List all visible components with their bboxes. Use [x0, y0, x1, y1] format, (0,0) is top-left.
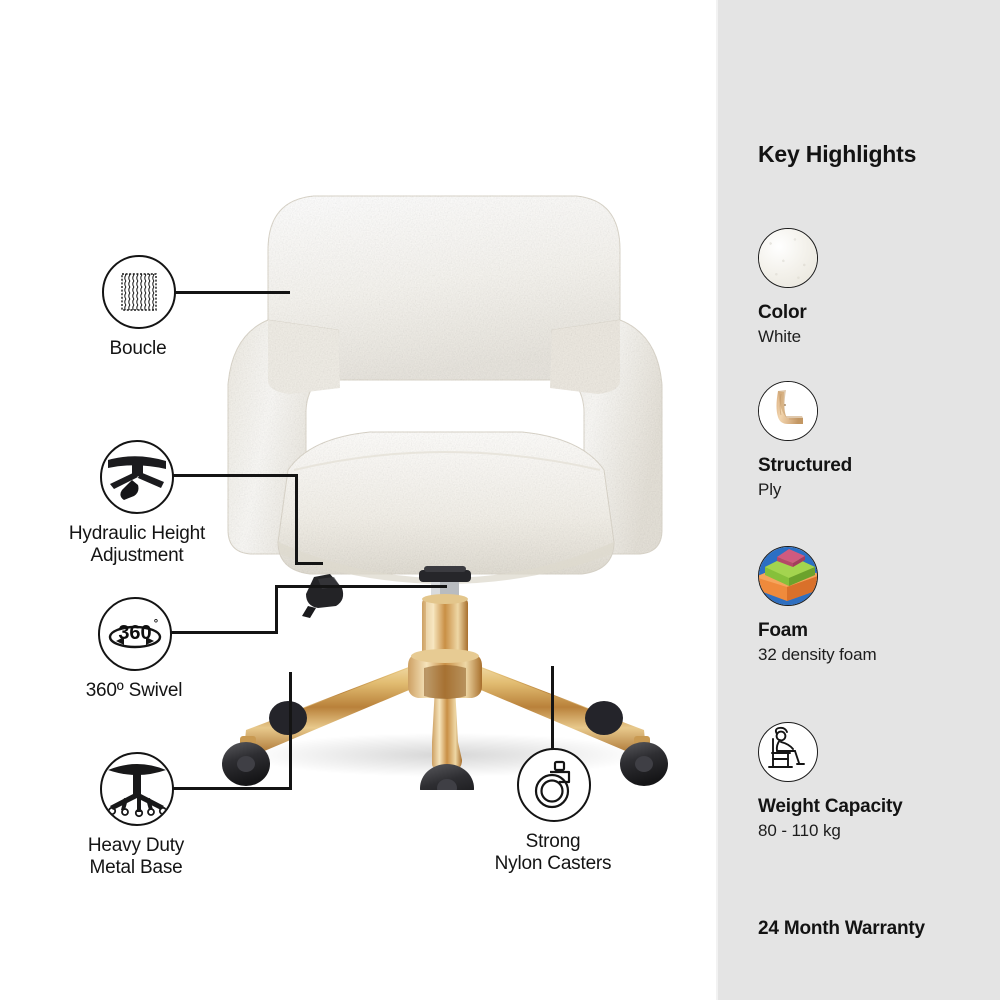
connector-line-swivel-h2 — [275, 585, 447, 588]
key-highlights-panel: Key Highlights Color White — [718, 0, 1000, 1000]
plywood-shell-icon — [758, 381, 818, 441]
foam-layers-icon — [758, 546, 818, 606]
connector-line-hydraulic-h1 — [170, 474, 298, 477]
callout-strong-nylon-casters[interactable]: Strong Nylon Casters — [517, 748, 589, 875]
highlight-title-foam: Foam — [758, 620, 877, 642]
connector-line-swivel-v — [275, 585, 278, 634]
connector-line-hydraulic-v — [295, 474, 298, 565]
highlight-foam[interactable]: Foam 32 density foam — [758, 546, 877, 665]
callout-label-casters: Strong Nylon Casters — [475, 831, 631, 875]
callout-boucle[interactable]: Boucle — [102, 255, 174, 360]
product-image-office-chair — [210, 170, 680, 790]
hydraulic-lever — [302, 574, 343, 618]
callout-label-boucle: Boucle — [102, 338, 174, 360]
warranty-text: 24 Month Warranty — [758, 918, 925, 940]
hydraulic-lever-icon — [100, 440, 174, 514]
connector-line-casters-v — [551, 666, 554, 750]
highlight-subtitle-color: White — [758, 327, 818, 347]
color-swatch-icon — [758, 228, 818, 288]
infographic-canvas: Boucle Hydraulic Height Adjustment — [0, 0, 1000, 1000]
connector-line-base-h — [172, 787, 292, 790]
highlight-title-structured: Structured — [758, 455, 852, 477]
callout-hydraulic-height-adjustment[interactable]: Hydraulic Height Adjustment — [100, 440, 174, 567]
connector-line-boucle — [172, 291, 290, 294]
connector-line-hydraulic-h2 — [295, 562, 323, 565]
highlight-subtitle-structured: Ply — [758, 480, 852, 500]
swivel-icon-text: 360 — [118, 622, 151, 644]
panel-divider — [716, 0, 718, 1000]
highlight-color[interactable]: Color White — [758, 228, 818, 347]
five-star-base-icon — [100, 752, 174, 826]
panel-title: Key Highlights — [758, 141, 916, 168]
highlight-structured[interactable]: Structured Ply — [758, 381, 852, 500]
highlight-title-weight-capacity: Weight Capacity — [758, 796, 902, 818]
fabric-weave-icon — [102, 255, 176, 329]
360-rotation-icon: 360 ° — [98, 597, 172, 671]
highlight-subtitle-weight-capacity: 80 - 110 kg — [758, 821, 902, 841]
callout-heavy-duty-metal-base[interactable]: Heavy Duty Metal Base — [100, 752, 172, 879]
callout-label-metal-base: Heavy Duty Metal Base — [60, 835, 212, 879]
connector-line-base-v — [289, 672, 292, 790]
callout-360-swivel[interactable]: 360 ° 360º Swivel — [98, 597, 170, 702]
svg-text:°: ° — [154, 618, 158, 630]
highlight-title-color: Color — [758, 302, 818, 324]
person-seated-icon — [758, 722, 818, 782]
connector-line-swivel-h1 — [168, 631, 278, 634]
caster-wheel-icon — [517, 748, 591, 822]
callout-label-swivel: 360º Swivel — [56, 680, 212, 702]
highlight-subtitle-foam: 32 density foam — [758, 645, 877, 665]
highlight-weight-capacity[interactable]: Weight Capacity 80 - 110 kg — [758, 722, 902, 841]
callout-label-hydraulic: Hydraulic Height Adjustment — [44, 523, 230, 567]
